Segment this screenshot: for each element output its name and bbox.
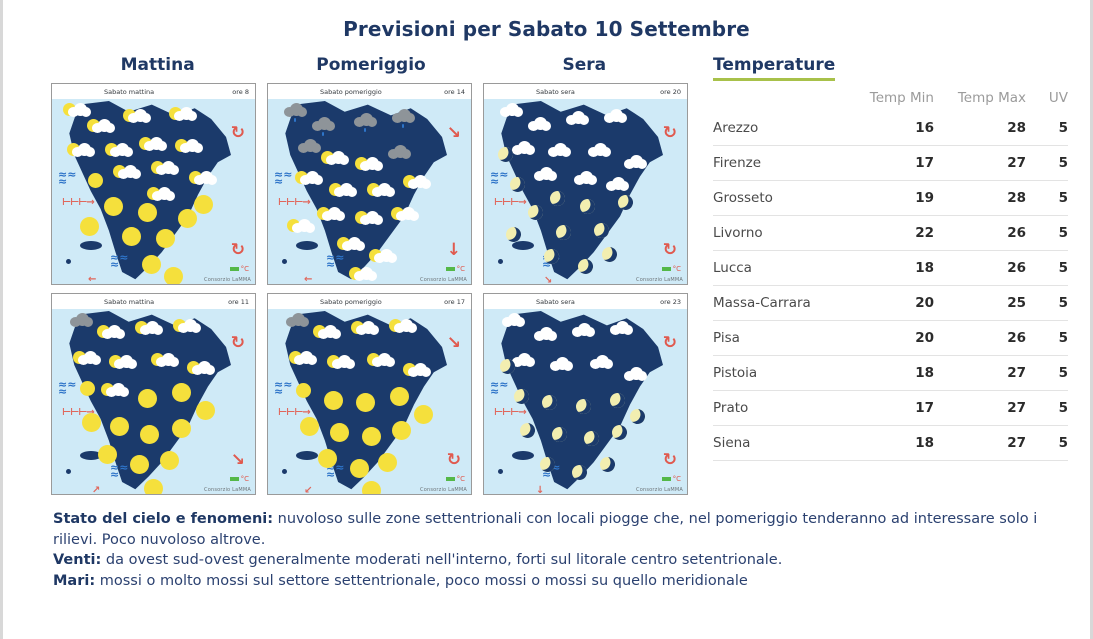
weather-map-card[interactable]: Sabato mattina ore 11 ≈≈≈ ≈≈≈ ⊢⊢⊢→ ↗	[51, 293, 256, 495]
sun-cloud-icon	[72, 143, 95, 157]
sea-wave-icon: ≈≈≈	[490, 171, 508, 185]
raindrop-icon	[364, 128, 366, 132]
sun-icon	[318, 449, 337, 468]
summary-wind-line: Venti: da ovest sud-ovest generalmente m…	[53, 550, 1066, 571]
cell-city: Prato	[713, 391, 842, 426]
column-header-uv: UV	[1026, 90, 1068, 111]
map-credit: Consorzio LaMMA	[204, 277, 251, 283]
table-row[interactable]: Livorno 22 26 5	[713, 216, 1068, 251]
cell-temp-max: 27	[934, 426, 1026, 461]
cell-temp-min: 19	[842, 181, 934, 216]
cloud-icon	[502, 313, 525, 327]
legend-swatch-icon	[446, 477, 455, 481]
wind-barb-icon: ⊢⊢⊢→	[494, 197, 526, 208]
map-credit: Consorzio LaMMA	[420, 277, 467, 283]
cell-uv: 5	[1026, 216, 1068, 251]
sun-icon	[362, 481, 381, 495]
table-row[interactable]: Arezzo 16 28 5	[713, 111, 1068, 146]
cell-temp-min: 18	[842, 426, 934, 461]
sun-icon	[356, 393, 375, 412]
map-column-heading-sera: Sera	[478, 55, 691, 83]
temperature-legend: °C	[662, 475, 681, 483]
summary-sea-label: Mari:	[53, 573, 95, 589]
cell-uv: 5	[1026, 391, 1068, 426]
cell-temp-min: 20	[842, 286, 934, 321]
sun-cloud-icon	[118, 165, 141, 179]
temperature-legend: °C	[230, 265, 249, 273]
cell-temp-min: 16	[842, 111, 934, 146]
cell-temp-min: 20	[842, 321, 934, 356]
temperature-heading: Temperature	[713, 55, 835, 81]
sun-icon	[392, 421, 411, 440]
cloud-icon	[572, 323, 595, 337]
wind-barb-icon: ↙	[304, 485, 311, 495]
cell-uv: 5	[1026, 111, 1068, 146]
summary-sea-line: Mari: mossi o molto mossi sul settore se…	[53, 571, 1066, 592]
sun-icon	[110, 417, 129, 436]
wind-barb-icon: ⊢⊢⊢→	[494, 407, 526, 418]
sun-cloud-icon	[152, 187, 175, 201]
sun-icon	[300, 417, 319, 436]
sun-icon	[178, 209, 197, 228]
cell-city: Grosseto	[713, 181, 842, 216]
table-row[interactable]: Siena 18 27 5	[713, 426, 1068, 461]
sun-icon	[172, 383, 191, 402]
legend-swatch-icon	[662, 267, 671, 271]
cell-temp-min: 22	[842, 216, 934, 251]
column-header-temp-min: Temp Min	[842, 90, 934, 111]
sea-wave-icon: ≈≈≈	[110, 254, 128, 268]
sun-cloud-icon	[332, 355, 355, 369]
legend-unit-label: °C	[457, 475, 465, 483]
raindrop-icon	[402, 124, 404, 128]
sun-cloud-icon	[408, 175, 431, 189]
map-caption: Sabato pomeriggio ore 17	[268, 294, 471, 309]
rain-cloud-icon	[392, 109, 415, 123]
map-caption-label: Sabato mattina	[104, 88, 154, 96]
cell-temp-max: 28	[934, 111, 1026, 146]
cloud-icon	[512, 141, 535, 155]
table-row[interactable]: Grosseto 19 28 5	[713, 181, 1068, 216]
sun-cloud-icon	[322, 207, 345, 221]
sun-cloud-icon	[114, 355, 137, 369]
weather-map-card[interactable]: Sabato pomeriggio ore 14 ≈≈≈ ≈≈≈ ⊢⊢⊢→ ←	[267, 83, 472, 285]
raindrop-icon	[294, 118, 296, 122]
legend-swatch-icon	[230, 477, 239, 481]
sun-cloud-icon	[354, 267, 377, 281]
wind-direction-legend-icon: ↻	[663, 452, 677, 469]
map-caption: Sabato mattina ore 8	[52, 84, 255, 99]
sun-cloud-icon	[292, 219, 315, 233]
sun-icon	[160, 451, 179, 470]
cloud-icon	[588, 143, 611, 157]
sun-icon	[138, 389, 157, 408]
sun-icon	[296, 383, 311, 398]
island-elba-shape	[512, 451, 534, 460]
sun-cloud-icon	[356, 321, 379, 335]
forecast-summary: Stato del cielo e fenomeni: nuvoloso sul…	[3, 503, 1090, 592]
sun-icon	[390, 387, 409, 406]
rain-cloud-icon	[388, 145, 411, 159]
wind-direction-legend-icon: ↘	[447, 125, 461, 142]
sea-wave-icon: ≈≈≈	[274, 171, 292, 185]
cloud-icon	[566, 111, 589, 125]
wind-barb-icon: ←	[304, 274, 311, 285]
legend-unit-label: °C	[241, 475, 249, 483]
table-row[interactable]: Lucca 18 26 5	[713, 251, 1068, 286]
sun-cloud-icon	[372, 183, 395, 197]
sun-cloud-icon	[396, 207, 419, 221]
sun-cloud-icon	[408, 363, 431, 377]
legend-swatch-icon	[230, 267, 239, 271]
sun-cloud-icon	[318, 325, 341, 339]
map-credit: Consorzio LaMMA	[636, 277, 683, 283]
map-caption: Sabato pomeriggio ore 14	[268, 84, 471, 99]
temperature-panel: Temperature Temp Min Temp Max UV Arezzo …	[691, 55, 1068, 503]
main-content: Mattina Pomeriggio Sera Sabato mattina o…	[3, 41, 1090, 503]
wind-direction-legend-icon: ↘	[231, 452, 245, 469]
cell-temp-max: 27	[934, 146, 1026, 181]
table-header-row: Temp Min Temp Max UV	[713, 90, 1068, 111]
summary-wind-text: da ovest sud-ovest generalmente moderati…	[101, 552, 782, 568]
island-elba-shape	[80, 241, 102, 250]
raindrop-icon	[322, 132, 324, 136]
rain-cloud-icon	[70, 313, 93, 327]
map-row-bottom: Sabato mattina ore 11 ≈≈≈ ≈≈≈ ⊢⊢⊢→ ↗	[51, 293, 691, 495]
wind-barb-icon: ⊢⊢⊢→	[278, 197, 310, 208]
sun-icon	[130, 455, 149, 474]
sun-cloud-icon	[174, 107, 197, 121]
sun-icon	[196, 401, 215, 420]
sun-icon	[172, 419, 191, 438]
cell-uv: 5	[1026, 356, 1068, 391]
map-caption-hour: ore 17	[444, 298, 465, 306]
map-canvas: ≈≈≈ ≈≈≈ ⊢⊢⊢→ ↗	[52, 309, 255, 495]
summary-sky-line: Stato del cielo e fenomeni: nuvoloso sul…	[53, 509, 1066, 550]
moon-icon	[598, 455, 618, 475]
map-caption-hour: ore 8	[232, 88, 249, 96]
sun-icon	[80, 381, 95, 396]
summary-sea-text: mossi o molto mossi sul settore settentr…	[95, 573, 748, 589]
cloud-icon	[500, 103, 523, 117]
sea-wave-icon: ≈≈≈	[58, 171, 76, 185]
wind-direction-legend-icon: ↻	[231, 125, 245, 142]
island-elba-shape	[296, 451, 318, 460]
island-small-shape	[66, 259, 71, 264]
wind-barb-icon: ↓	[536, 485, 543, 495]
legend-swatch-icon	[662, 477, 671, 481]
map-credit: Consorzio LaMMA	[420, 487, 467, 493]
sun-icon	[140, 425, 159, 444]
moon-cloud-icon	[534, 167, 557, 181]
cloud-icon	[604, 109, 627, 123]
wind-barb-icon: ↗	[92, 485, 99, 495]
sun-cloud-icon	[78, 351, 101, 365]
legend-unit-label: °C	[457, 265, 465, 273]
map-canvas: ≈≈≈ ≈≈≈ ⊢⊢⊢→ ←	[268, 99, 471, 285]
moon-icon	[628, 407, 648, 427]
cell-temp-max: 26	[934, 216, 1026, 251]
moon-cloud-icon	[550, 357, 573, 371]
island-elba-shape	[296, 241, 318, 250]
cell-uv: 5	[1026, 426, 1068, 461]
sun-icon	[144, 479, 163, 495]
column-header-city	[713, 90, 842, 111]
cell-temp-min: 18	[842, 356, 934, 391]
weather-map-card[interactable]: Sabato mattina ore 8 ≈≈≈ ≈≈≈ ⊢⊢⊢→ ←	[51, 83, 256, 285]
rain-cloud-icon	[354, 113, 377, 127]
cell-temp-max: 26	[934, 321, 1026, 356]
temperature-legend: °C	[662, 265, 681, 273]
moon-cloud-icon	[624, 155, 647, 169]
sun-cloud-icon	[144, 137, 167, 151]
summary-sky-label: Stato del cielo e fenomeni:	[53, 511, 273, 527]
map-caption-hour: ore 11	[228, 298, 249, 306]
forecast-page: Previsioni per Sabato 10 Settembre Matti…	[0, 0, 1093, 639]
sun-cloud-icon	[300, 171, 323, 185]
maps-area: Mattina Pomeriggio Sera Sabato mattina o…	[51, 55, 691, 503]
island-elba-shape	[512, 241, 534, 250]
sea-wave-icon: ≈≈≈	[110, 464, 128, 478]
wind-direction-legend-icon: ↓	[447, 242, 461, 259]
sun-cloud-icon	[128, 109, 151, 123]
cell-uv: 5	[1026, 286, 1068, 321]
island-small-shape	[66, 469, 71, 474]
sun-icon	[324, 391, 343, 410]
sun-icon	[80, 217, 99, 236]
sun-cloud-icon	[294, 351, 317, 365]
rain-cloud-icon	[286, 313, 309, 327]
sun-icon	[330, 423, 349, 442]
sun-cloud-icon	[92, 119, 115, 133]
sun-icon	[164, 267, 183, 285]
sun-cloud-icon	[106, 383, 129, 397]
sun-cloud-icon	[372, 353, 395, 367]
map-column-heading-mattina: Mattina	[51, 55, 264, 83]
map-caption-label: Sabato sera	[536, 88, 575, 96]
table-row[interactable]: Pisa 20 26 5	[713, 321, 1068, 356]
temperature-legend: °C	[446, 265, 465, 273]
sun-icon	[362, 427, 381, 446]
cell-city: Arezzo	[713, 111, 842, 146]
map-caption-label: Sabato pomeriggio	[320, 298, 382, 306]
sun-cloud-icon	[194, 171, 217, 185]
wind-barb-icon: ←	[88, 274, 95, 285]
rain-cloud-icon	[284, 103, 307, 117]
sun-cloud-icon	[156, 161, 179, 175]
legend-unit-label: °C	[673, 475, 681, 483]
table-row[interactable]: Prato 17 27 5	[713, 391, 1068, 426]
rain-cloud-icon	[298, 139, 321, 153]
map-credit: Consorzio LaMMA	[204, 487, 251, 493]
map-row-top: Sabato mattina ore 8 ≈≈≈ ≈≈≈ ⊢⊢⊢→ ←	[51, 83, 691, 285]
sun-icon	[138, 203, 157, 222]
sun-cloud-icon	[140, 321, 163, 335]
map-caption-hour: ore 14	[444, 88, 465, 96]
sun-icon	[378, 453, 397, 472]
map-canvas: ≈≈≈ ≈≈≈ ⊢⊢⊢→ ↙	[268, 309, 471, 495]
legend-unit-label: °C	[673, 265, 681, 273]
temperature-legend: °C	[230, 475, 249, 483]
cell-city: Livorno	[713, 216, 842, 251]
map-caption: Sabato sera ore 23	[484, 294, 687, 309]
temperature-legend: °C	[446, 475, 465, 483]
table-row[interactable]: Massa-Carrara 20 25 5	[713, 286, 1068, 321]
sun-icon	[194, 195, 213, 214]
sun-icon	[104, 197, 123, 216]
map-canvas: ≈≈≈ ≈≈≈ ⊢⊢⊢→ ↓	[484, 309, 687, 495]
weather-map-card[interactable]: Sabato pomeriggio ore 17 ≈≈≈ ≈≈≈ ⊢⊢⊢→ ↙	[267, 293, 472, 495]
wind-barb-icon: ↘	[544, 275, 551, 285]
sun-cloud-icon	[156, 353, 179, 367]
tuscany-landmass-shape	[498, 101, 663, 281]
sun-cloud-icon	[326, 151, 349, 165]
sun-cloud-icon	[178, 319, 201, 333]
map-caption-hour: ore 20	[660, 88, 681, 96]
sun-icon	[98, 445, 117, 464]
wind-direction-legend-icon: ↻	[447, 452, 461, 469]
wind-direction-legend-icon: ↻	[231, 242, 245, 259]
cell-city: Pisa	[713, 321, 842, 356]
map-column-heading-pomeriggio: Pomeriggio	[264, 55, 477, 83]
island-small-shape	[282, 259, 287, 264]
cell-temp-max: 26	[934, 251, 1026, 286]
cloud-icon	[534, 327, 557, 341]
cloud-icon	[528, 117, 551, 131]
sun-cloud-icon	[180, 139, 203, 153]
map-column-headings: Mattina Pomeriggio Sera	[51, 55, 691, 83]
temperature-table: Temp Min Temp Max UV Arezzo 16 28 5 Fire…	[713, 90, 1068, 461]
rain-cloud-icon	[312, 117, 335, 131]
wind-direction-legend-icon: ↻	[663, 335, 677, 352]
moon-cloud-icon	[624, 367, 647, 381]
cloud-icon	[610, 321, 633, 335]
cell-temp-min: 18	[842, 251, 934, 286]
sun-icon	[156, 229, 175, 248]
page-title: Previsioni per Sabato 10 Settembre	[3, 0, 1090, 41]
sun-icon	[350, 459, 369, 478]
sun-cloud-icon	[374, 249, 397, 263]
sun-icon	[142, 255, 161, 274]
cell-uv: 5	[1026, 251, 1068, 286]
sun-cloud-icon	[360, 157, 383, 171]
island-small-shape	[498, 259, 503, 264]
cell-city: Massa-Carrara	[713, 286, 842, 321]
cell-temp-max: 28	[934, 181, 1026, 216]
moon-cloud-icon	[590, 355, 613, 369]
cell-city: Firenze	[713, 146, 842, 181]
table-row[interactable]: Pistoia 18 27 5	[713, 356, 1068, 391]
wind-direction-legend-icon: ↻	[663, 242, 677, 259]
weather-map-card[interactable]: Sabato sera ore 23 ≈≈≈ ≈≈≈ ⊢⊢⊢→ ↓	[483, 293, 688, 495]
moon-cloud-icon	[574, 171, 597, 185]
sun-cloud-icon	[394, 319, 417, 333]
cell-temp-min: 17	[842, 146, 934, 181]
sea-wave-icon: ≈≈≈	[58, 381, 76, 395]
sun-cloud-icon	[342, 237, 365, 251]
column-header-temp-max: Temp Max	[934, 90, 1026, 111]
map-caption: Sabato sera ore 20	[484, 84, 687, 99]
table-row[interactable]: Firenze 17 27 5	[713, 146, 1068, 181]
sun-cloud-icon	[192, 361, 215, 375]
wind-barb-icon: ⊢⊢⊢→	[278, 407, 310, 418]
cell-city: Siena	[713, 426, 842, 461]
wind-direction-legend-icon: ↻	[663, 125, 677, 142]
sun-cloud-icon	[334, 183, 357, 197]
moon-cloud-icon	[606, 177, 629, 191]
map-caption-label: Sabato sera	[536, 298, 575, 306]
sun-cloud-icon	[68, 103, 91, 117]
wind-direction-legend-icon: ↻	[231, 335, 245, 352]
map-caption-hour: ore 23	[660, 298, 681, 306]
map-canvas: ≈≈≈ ≈≈≈ ⊢⊢⊢→ ←	[52, 99, 255, 285]
moon-icon	[600, 245, 620, 265]
map-credit: Consorzio LaMMA	[636, 487, 683, 493]
sun-icon	[88, 173, 103, 188]
map-caption-label: Sabato pomeriggio	[320, 88, 382, 96]
moon-cloud-icon	[512, 353, 535, 367]
cell-uv: 5	[1026, 181, 1068, 216]
cell-temp-max: 25	[934, 286, 1026, 321]
cell-temp-max: 27	[934, 356, 1026, 391]
map-caption: Sabato mattina ore 11	[52, 294, 255, 309]
weather-map-card[interactable]: Sabato sera ore 20 ≈≈≈ ≈≈≈ ⊢⊢⊢→ ↘	[483, 83, 688, 285]
sun-icon	[122, 227, 141, 246]
sun-cloud-icon	[360, 211, 383, 225]
map-caption-label: Sabato mattina	[104, 298, 154, 306]
sun-icon	[414, 405, 433, 424]
legend-swatch-icon	[446, 267, 455, 271]
cell-temp-max: 27	[934, 391, 1026, 426]
cell-city: Pistoia	[713, 356, 842, 391]
cell-temp-min: 17	[842, 391, 934, 426]
sea-wave-icon: ≈≈≈	[490, 381, 508, 395]
sun-cloud-icon	[102, 325, 125, 339]
sun-icon	[82, 413, 101, 432]
sea-wave-icon: ≈≈≈	[274, 381, 292, 395]
cell-uv: 5	[1026, 146, 1068, 181]
sea-wave-icon: ≈≈≈	[326, 254, 344, 268]
summary-wind-label: Venti:	[53, 552, 101, 568]
wind-barb-icon: ⊢⊢⊢→	[62, 197, 94, 208]
cell-uv: 5	[1026, 321, 1068, 356]
island-small-shape	[282, 469, 287, 474]
sun-cloud-icon	[110, 143, 133, 157]
map-canvas: ≈≈≈ ≈≈≈ ⊢⊢⊢→ ↘	[484, 99, 687, 285]
wind-direction-legend-icon: ↘	[447, 335, 461, 352]
cloud-icon	[548, 143, 571, 157]
cell-city: Lucca	[713, 251, 842, 286]
island-small-shape	[498, 469, 503, 474]
legend-unit-label: °C	[241, 265, 249, 273]
